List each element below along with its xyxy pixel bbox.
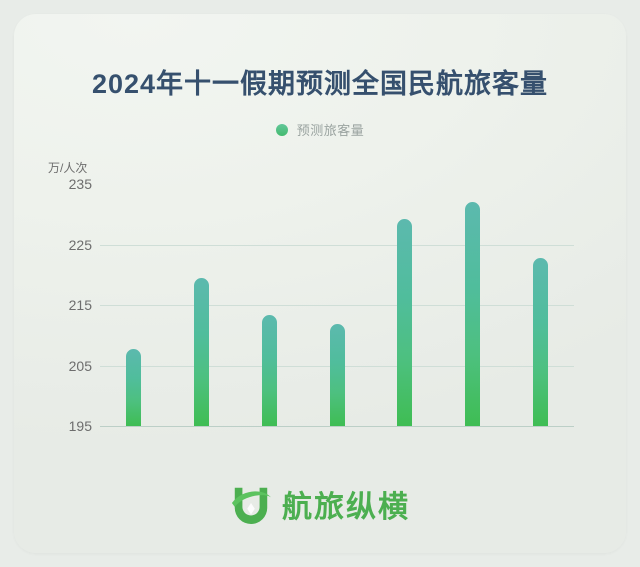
- y-axis-unit-label: 万/人次: [48, 159, 87, 176]
- y-axis-tick-label: 225: [52, 237, 92, 253]
- bar[interactable]: [194, 278, 209, 426]
- brand-footer: 航旅纵横: [14, 482, 626, 526]
- brand-name: 航旅纵横: [282, 482, 410, 526]
- chart-legend: 预测旅客量: [14, 120, 626, 139]
- x-axis-line: [100, 426, 574, 427]
- bar[interactable]: [533, 258, 548, 426]
- y-axis-tick-label: 205: [52, 358, 92, 374]
- bar[interactable]: [126, 349, 141, 426]
- legend-label: 预测旅客量: [297, 120, 365, 139]
- bar[interactable]: [397, 219, 412, 426]
- hangluzongheng-logo-icon: [230, 482, 272, 526]
- y-axis-tick-label: 215: [52, 297, 92, 313]
- y-axis-tick-label: 195: [52, 418, 92, 434]
- bar[interactable]: [262, 315, 277, 426]
- y-axis-tick-label: 235: [52, 176, 92, 192]
- chart-card: 2024年十一假期预测全国民航旅客量 预测旅客量 万/人次 1952052152…: [14, 14, 626, 553]
- bar[interactable]: [330, 324, 345, 426]
- gridline: [100, 305, 574, 306]
- bar[interactable]: [465, 202, 480, 426]
- chart-plot-area: 万/人次 19520521522523510月1日10月2日10月3日10月4日…: [100, 166, 574, 426]
- gridline: [100, 245, 574, 246]
- legend-marker-icon: [276, 124, 288, 136]
- page-title: 2024年十一假期预测全国民航旅客量: [14, 62, 626, 101]
